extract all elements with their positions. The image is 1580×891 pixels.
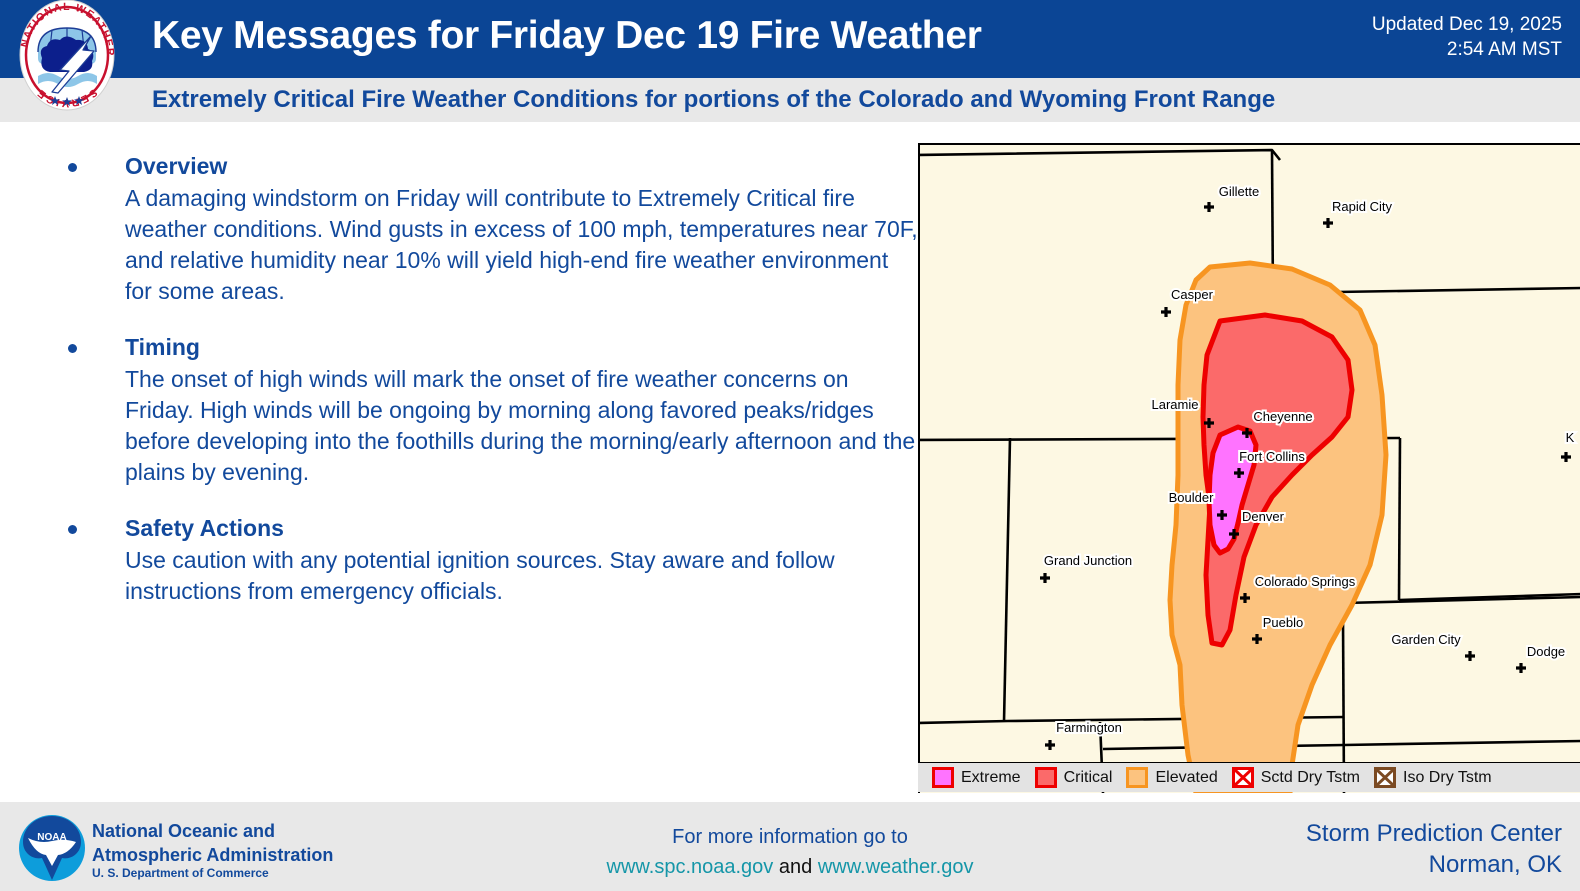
page-title: Key Messages for Friday Dec 19 Fire Weat… — [152, 14, 982, 58]
legend-swatch-sctd-dry-tstm-icon — [1232, 767, 1254, 788]
key-message-timing: Timing The onset of high winds will mark… — [60, 333, 920, 488]
city-label: Dodge — [1527, 644, 1565, 659]
key-messages-list: Overview A damaging windstorm on Friday … — [60, 152, 920, 633]
key-message-heading: Overview — [125, 152, 920, 180]
city-label: Laramie — [1152, 397, 1199, 412]
city-label: Colorado Springs — [1255, 574, 1356, 589]
office-location: Norman, OK — [1306, 849, 1562, 880]
key-message-safety-actions: Safety Actions Use caution with any pote… — [60, 514, 920, 607]
legend-swatch-elevated-icon — [1126, 767, 1148, 788]
issuing-office: Storm Prediction Center Norman, OK — [1306, 818, 1562, 880]
legend-item-elevated[interactable]: Elevated — [1126, 767, 1217, 788]
link-weather-gov[interactable]: www.weather.gov — [818, 856, 974, 878]
city-label: Garden City — [1391, 632, 1461, 647]
bullet-dot-icon — [68, 163, 77, 172]
city-label: Boulder — [1169, 490, 1214, 505]
city-label: Pueblo — [1263, 615, 1303, 630]
legend-item-sctd-dry-tstm[interactable]: Sctd Dry Tstm — [1232, 767, 1360, 788]
city-label: Grand Junction — [1044, 553, 1132, 568]
city-label: Farmington — [1056, 720, 1122, 735]
legend-swatch-extreme-icon — [932, 767, 954, 788]
key-message-heading: Timing — [125, 333, 920, 361]
footer-bar: NOAA National Oceanic and Atmospheric Ad… — [0, 800, 1580, 891]
bullet-dot-icon — [68, 344, 77, 353]
key-message-body: Use caution with any potential ignition … — [125, 545, 920, 607]
link-spc-noaa[interactable]: www.spc.noaa.gov — [607, 856, 774, 878]
city-label: Denver — [1242, 509, 1285, 524]
updated-timestamp: Updated Dec 19, 2025 2:54 AM MST — [1372, 12, 1562, 62]
city-label: Gillette — [1219, 184, 1259, 199]
key-message-body: The onset of high winds will mark the on… — [125, 364, 920, 488]
city-label: Rapid City — [1332, 199, 1392, 214]
legend-label: Extreme — [961, 769, 1021, 787]
bullet-dot-icon — [68, 525, 77, 534]
city-label: Fort Collins — [1239, 449, 1305, 464]
updated-date: Updated Dec 19, 2025 — [1372, 12, 1562, 37]
office-name: Storm Prediction Center — [1306, 818, 1562, 849]
legend-label: Elevated — [1155, 769, 1217, 787]
legend-swatch-iso-dry-tstm-icon — [1374, 767, 1396, 788]
legend-label: Critical — [1064, 769, 1113, 787]
legend-label: Iso Dry Tstm — [1403, 769, 1492, 787]
legend-item-extreme[interactable]: Extreme — [932, 767, 1021, 788]
legend-label: Sctd Dry Tstm — [1261, 769, 1360, 787]
city-label: K — [1566, 430, 1575, 445]
nws-logo-icon: NATIONAL WEATHER SERVICE — [8, 0, 126, 114]
city-label: Cheyenne — [1253, 409, 1312, 424]
map-legend: Extreme Critical Elevated Sctd Dry Tstm … — [918, 762, 1580, 792]
subtitle-text: Extremely Critical Fire Weather Conditio… — [152, 86, 1275, 114]
updated-time: 2:54 AM MST — [1372, 37, 1562, 62]
key-message-overview: Overview A damaging windstorm on Friday … — [60, 152, 920, 307]
key-message-heading: Safety Actions — [125, 514, 920, 542]
footer-conjunction: and — [779, 856, 812, 878]
legend-item-critical[interactable]: Critical — [1035, 767, 1113, 788]
fire-weather-outlook-map[interactable]: GilletteGilletteRapid CityRapid CityCasp… — [918, 143, 1580, 793]
legend-item-iso-dry-tstm[interactable]: Iso Dry Tstm — [1374, 767, 1492, 788]
legend-swatch-critical-icon — [1035, 767, 1057, 788]
city-label: Casper — [1171, 287, 1214, 302]
key-message-body: A damaging windstorm on Friday will cont… — [125, 183, 920, 307]
